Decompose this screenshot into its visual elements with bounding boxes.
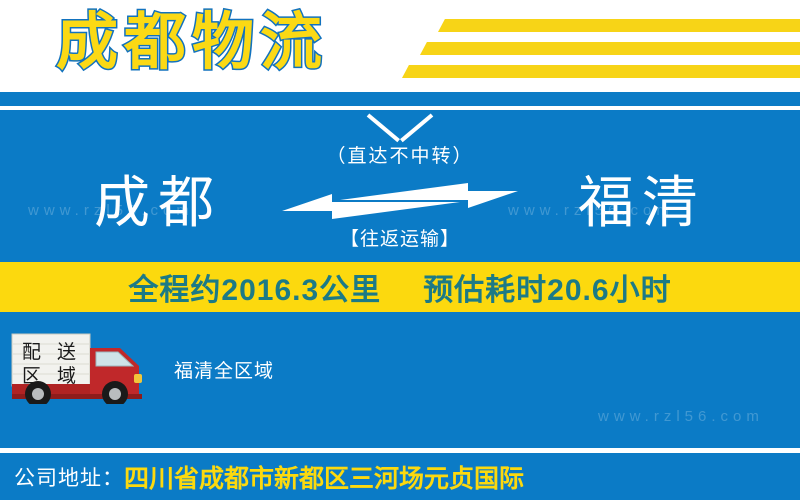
bidirectional-arrow-icon [282,178,518,224]
stat-distance: 全程约2016.3公里 [128,265,381,309]
origin-city: 成都 [28,160,288,246]
route-center: （直达不中转） 【往返运输】 [282,142,518,254]
route-section: 成都 （直达不中转） 【往返运输】 福清 [0,160,800,270]
decorative-stripes [380,0,800,92]
svg-text:域: 域 [57,365,76,387]
page-title: 成都物流 [56,4,328,82]
route-sub-note: 【往返运输】 [282,226,518,254]
logistics-banner: 成都物流 www.rzl56.com www.rzl56.com www.rzl… [0,0,800,500]
stats-band: 全程约2016.3公里 预估耗时20.6小时 [0,262,800,312]
stripe-2 [420,42,800,55]
svg-text:送: 送 [57,341,76,363]
svg-text:配: 配 [22,342,41,363]
banner-header: 成都物流 [0,0,800,92]
delivery-area-row: 配 送 区 域 [8,330,508,410]
stripe-1 [438,19,800,32]
route-note: （直达不中转） [282,142,518,172]
delivery-area-label: 福清全区域 [174,356,274,383]
delivery-truck-icon: 配 送 区 域 [8,330,158,404]
banner-body: www.rzl56.com www.rzl56.com www.rzl56.co… [0,92,800,448]
watermark-mid-right: www.rzl56.com [598,408,764,425]
address-value: 四川省成都市新都区三河场元贞国际 [124,459,524,495]
chevron-down-icon [371,103,429,133]
address-bar: 公司地址： 四川省成都市新都区三河场元贞国际 [0,453,800,500]
stat-duration: 预估耗时20.6小时 [423,265,671,309]
destination-city: 福清 [512,160,772,246]
stripe-3 [402,65,800,78]
address-label: 公司地址： [14,462,124,492]
